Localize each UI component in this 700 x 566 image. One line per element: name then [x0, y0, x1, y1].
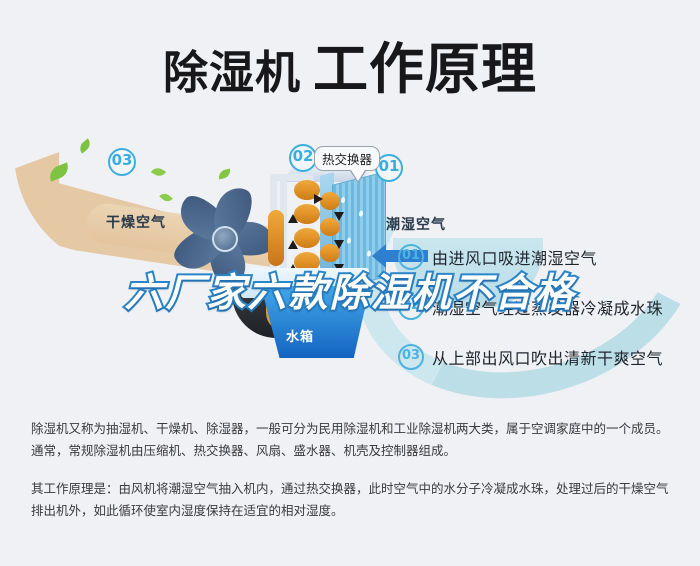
fan-hub — [212, 226, 238, 252]
water-tank-label: 水箱 — [286, 326, 314, 345]
coil-loop — [320, 192, 340, 210]
page-title-part2: 工作原理 — [313, 37, 537, 101]
body-paragraph-2: 其工作原理是：由风机将潮湿空气抽入机内，通过热交换器，此时空气中的水分子冷凝成水… — [31, 478, 671, 522]
body-copy: 除湿机又称为抽湿机、干燥机、除湿器，一般可分为民用除湿机和工业除湿机两大类，属于… — [31, 418, 671, 522]
humid-air-label: 潮湿空气 — [386, 214, 446, 234]
poster-root: 除湿机工作原理 — [0, 0, 700, 566]
diagram-badge-03: 03 — [108, 148, 136, 176]
flow-arrow-icon — [288, 240, 298, 249]
leaf-icon — [77, 138, 93, 153]
step-number: 03 — [398, 344, 424, 370]
flow-arrow-icon — [334, 240, 344, 249]
water-droplet-icon — [347, 237, 351, 244]
water-droplet-icon — [341, 196, 345, 203]
overlay-headline: 六厂家六款除湿机不合格 — [0, 262, 700, 318]
flow-arrow-icon — [314, 194, 323, 204]
dry-air-label: 干燥空气 — [106, 212, 166, 232]
water-droplet-icon — [359, 210, 363, 217]
flow-arrow-icon — [334, 212, 344, 221]
flow-arrow-icon — [288, 214, 298, 223]
step-text: 从上部出风口吹出清新干爽空气 — [432, 345, 663, 369]
page-title: 除湿机工作原理 — [0, 24, 700, 104]
body-paragraph-1: 除湿机又称为抽湿机、干燥机、除湿器，一般可分为民用除湿机和工业除湿机两大类，属于… — [31, 418, 671, 462]
compressor-cylinder — [268, 210, 284, 266]
diagram-badge-02: 02 — [289, 144, 317, 172]
heat-exchanger-callout: 热交换器 — [314, 146, 380, 171]
water-droplet-icon — [367, 250, 371, 257]
leaf-icon — [151, 165, 166, 178]
list-item: 03 从上部出风口吹出清新干爽空气 — [398, 344, 663, 370]
page-title-part1: 除湿机 — [163, 46, 301, 99]
